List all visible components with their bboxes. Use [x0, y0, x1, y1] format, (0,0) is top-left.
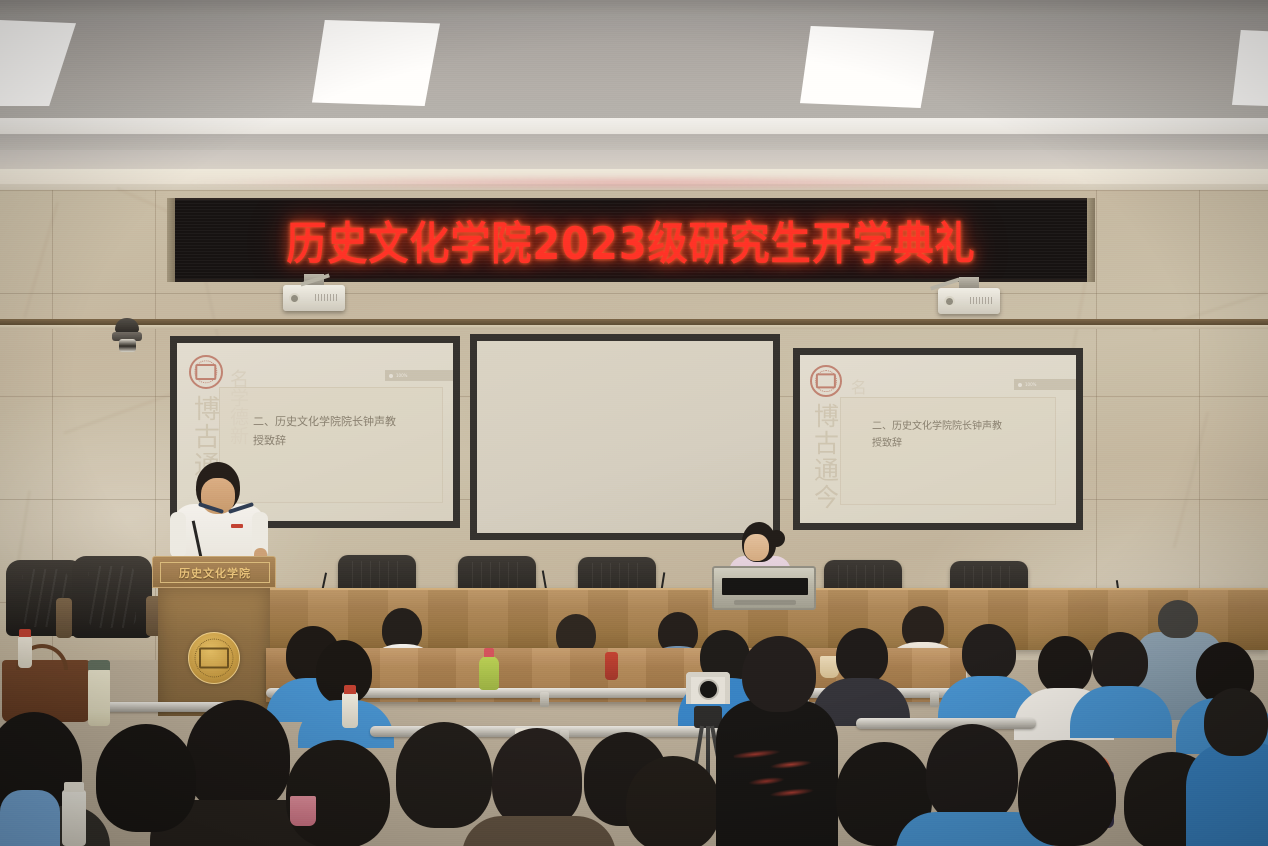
ceiling-band-upper	[0, 118, 1268, 134]
desk-rail-2b	[856, 718, 1036, 729]
university-emblem-icon	[188, 632, 240, 684]
audience-head	[186, 700, 290, 812]
speaker-shirt-logo	[231, 524, 243, 528]
ceiling-soffit	[0, 0, 1268, 16]
ceiling-light-panel-3	[800, 26, 934, 108]
lecture-hall-scene: 历史文化学院2023级研究生开学典礼 博古通今 名学德新 100%	[0, 0, 1268, 846]
speaker-sleeve-left	[170, 512, 186, 558]
audience-head	[1018, 740, 1116, 846]
banner-frame-left	[167, 198, 175, 282]
host-face	[744, 534, 769, 561]
ceiling-light-panel-2	[312, 20, 440, 106]
audience-head	[492, 728, 582, 828]
ceiling-projector-left	[283, 285, 345, 311]
audience-head	[396, 722, 492, 828]
audience-head	[1204, 688, 1268, 756]
equipment-case-slot	[722, 578, 808, 595]
ceiling-projector-right	[938, 288, 1000, 314]
audience-head	[1038, 636, 1092, 694]
audience-head	[926, 724, 1018, 824]
audience-head	[962, 624, 1016, 682]
center-whiteboard	[470, 334, 780, 540]
bottle-cap	[64, 782, 84, 792]
bottle-cap	[484, 648, 494, 657]
ceiling-light-panel-1	[0, 18, 76, 106]
audience-shoulders	[0, 790, 60, 846]
desk-rail-post	[540, 692, 549, 707]
projector-lens-icon	[944, 296, 955, 307]
ceiling-band-lower	[0, 150, 1268, 169]
led-reflection-glow	[190, 176, 1090, 190]
stage-office-chair-2	[72, 556, 152, 638]
attendee-right-head	[1158, 600, 1198, 638]
projector-vent	[970, 297, 992, 304]
banner-frame-right	[1087, 198, 1095, 282]
projector-lens-icon	[289, 293, 300, 304]
led-banner-text: 历史文化学院2023级研究生开学典礼	[286, 207, 975, 272]
ceiling	[0, 0, 1268, 122]
podium-body	[158, 588, 270, 716]
water-bottle	[479, 656, 499, 690]
water-bottle	[605, 652, 618, 680]
podium: 历史文化学院	[152, 556, 276, 716]
audience-head	[286, 740, 390, 846]
thermos-cap	[88, 660, 110, 670]
desk-rail-post	[930, 692, 939, 707]
ceiling-light-panel-4	[1232, 30, 1268, 108]
led-banner: 历史文化学院2023级研究生开学典礼	[175, 198, 1087, 282]
pink-cup	[290, 796, 316, 826]
thermos-bottle	[88, 668, 110, 726]
audience-head	[836, 628, 888, 684]
podium-top: 历史文化学院	[152, 556, 276, 588]
audience-shoulders	[462, 816, 616, 846]
chair-armrest-left	[56, 598, 72, 638]
bottle-cap	[19, 629, 31, 637]
projector-vent	[315, 294, 337, 301]
podium-nameplate: 历史文化学院	[160, 562, 270, 583]
whiteboard-surface	[477, 341, 773, 533]
host-hair-bun	[768, 530, 785, 547]
audience-head	[96, 724, 196, 832]
slide-surface-right: 博古通今 名 100% 二、历史文化学院院长钟声教 授致辞	[800, 355, 1076, 523]
audience-head	[626, 756, 720, 846]
tshirt-graphic	[732, 732, 824, 820]
ptz-camera-lens-icon	[698, 679, 719, 700]
wall-ledge-highlight	[0, 325, 1268, 329]
equipment-case-handle	[734, 600, 796, 605]
podium-nameplate-text: 历史文化学院	[179, 565, 251, 581]
audience-head	[1092, 632, 1148, 692]
bottle-cap	[344, 685, 356, 694]
projector-mount	[959, 277, 979, 288]
audience-head	[742, 636, 816, 712]
projection-screen-right: 博古通今 名 100% 二、历史文化学院院长钟声教 授致辞	[793, 348, 1083, 530]
water-bottle	[62, 790, 86, 846]
ceiling-band-mid	[0, 134, 1268, 150]
water-bottle	[342, 692, 358, 728]
water-bottle	[18, 636, 32, 668]
av-equipment-case	[712, 566, 816, 610]
audience-shoulders	[1186, 742, 1268, 846]
